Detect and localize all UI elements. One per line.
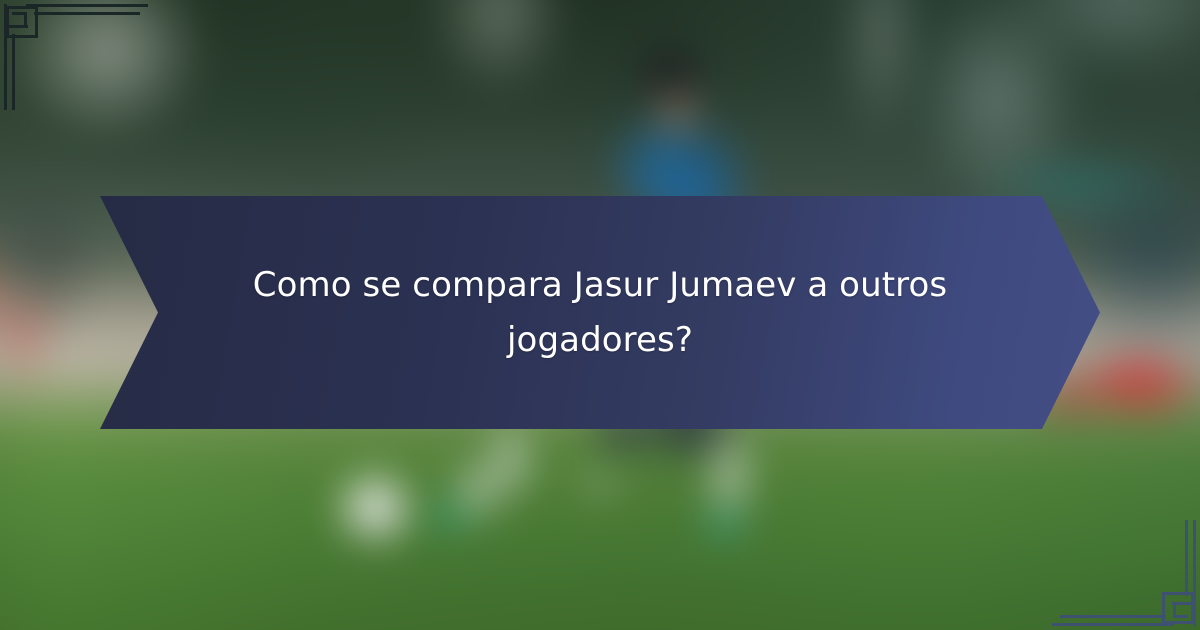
frame-line-vertical-outer — [4, 26, 7, 110]
headline-line-1: Como se compara Jasur Jumaev a outros — [230, 257, 970, 312]
frame-line-horizontal-outer — [1052, 623, 1174, 626]
social-card: Como se compara Jasur Jumaev a outros jo… — [0, 0, 1200, 630]
headline-text: Como se compara Jasur Jumaev a outros jo… — [100, 257, 1100, 367]
headline-line-2: jogadores? — [230, 313, 970, 368]
corner-square-bottom-right — [1162, 592, 1194, 624]
frame-line-vertical-inner — [12, 34, 15, 110]
headline-banner: Como se compara Jasur Jumaev a outros jo… — [100, 196, 1100, 429]
frame-line-horizontal-outer — [26, 4, 148, 7]
frame-line-vertical-inner — [1185, 520, 1188, 596]
frame-line-horizontal-inner — [34, 12, 140, 15]
frame-line-horizontal-inner — [1060, 615, 1166, 618]
corner-square-top-left — [6, 6, 38, 38]
